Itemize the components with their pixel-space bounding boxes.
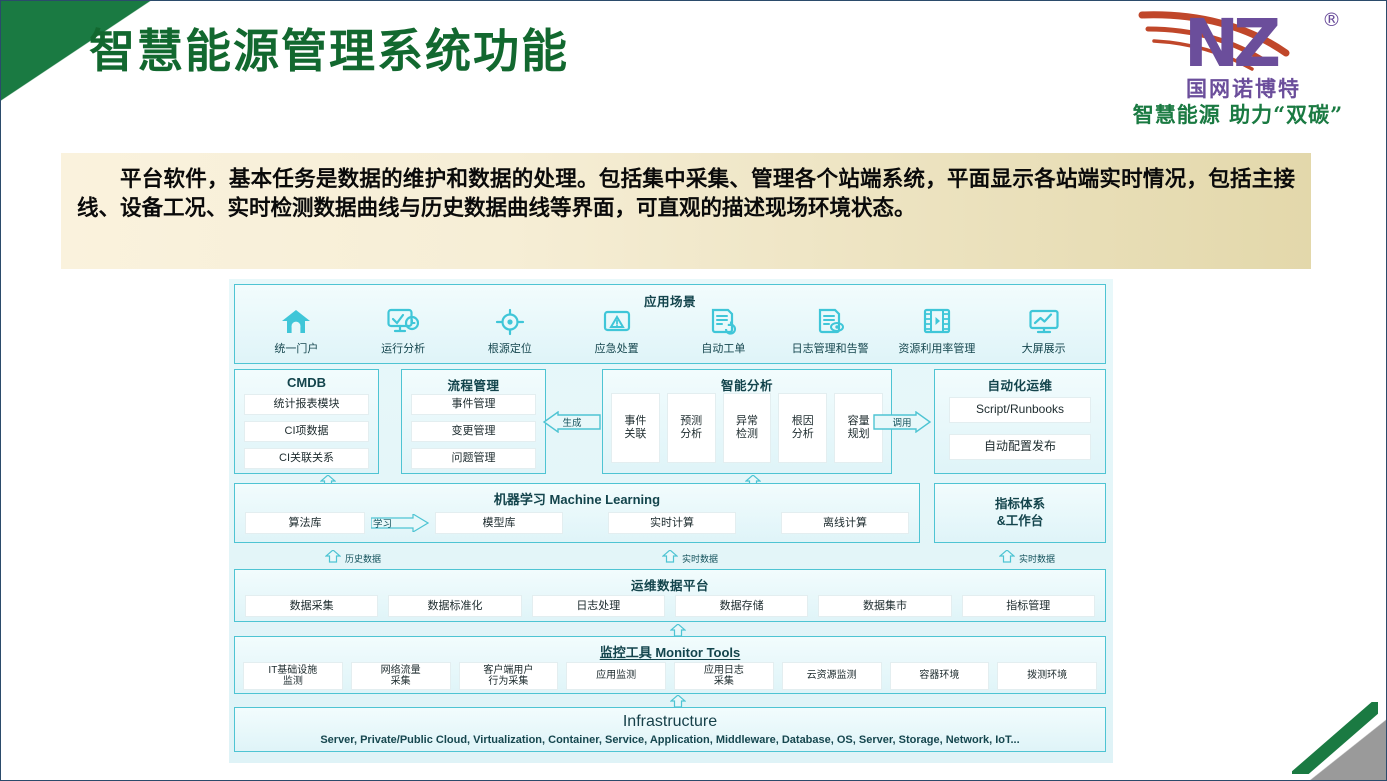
automation-item[interactable]: Script/Runbooks <box>949 397 1091 423</box>
scenario-label: 大屏展示 <box>990 340 1097 356</box>
logo-tagline: 智慧能源 助力“双碳” <box>1106 99 1370 129</box>
panel-machine-learning: 机器学习 Machine Learning 算法库 学习 模型库 实时计算 离线… <box>234 483 920 543</box>
connector-up-arrow-history <box>325 550 341 563</box>
monitor-item-line1: IT基础设施 <box>268 665 317 676</box>
process-items: 事件管理 变更管理 问题管理 <box>411 394 536 475</box>
data-platform-item[interactable]: 指标管理 <box>962 595 1095 617</box>
scenario-label: 统一门户 <box>243 340 350 356</box>
scenario-list: 统一门户 运行分析 根源定位 应急处置 <box>243 307 1097 356</box>
connector-label-realtime-data: 实时数据 <box>682 552 718 565</box>
intelligent-item-line1: 容量 <box>848 415 870 428</box>
monitor-title: 监控工具 Monitor Tools <box>235 637 1105 661</box>
ml-item-offline-compute[interactable]: 离线计算 <box>781 512 909 534</box>
row-mid: CMDB 统计报表模块 CI项数据 CI关联关系 流程管理 事件管理 变更管理 … <box>234 369 1106 474</box>
intelligent-item-line1: 事件 <box>624 415 646 428</box>
monitor-item-line1: 应用日志 <box>704 665 744 676</box>
intelligent-item-line2: 规划 <box>848 428 870 441</box>
panel-ops-data-platform: 运维数据平台 数据采集 数据标准化 日志处理 数据存储 数据集市 指标管理 <box>234 569 1106 622</box>
cmdb-item[interactable]: CI关联关系 <box>244 448 369 469</box>
bigscreen-icon <box>990 307 1097 337</box>
panel-intelligent-analysis: 智能分析 事件 关联 预测 分析 异常 检测 根因 分析 <box>602 369 892 474</box>
intelligent-item-line2: 检测 <box>736 428 758 441</box>
monitor-chart-icon <box>350 307 457 337</box>
row-machine-learning: 机器学习 Machine Learning 算法库 学习 模型库 实时计算 离线… <box>234 483 1106 543</box>
connector-label-history-data: 历史数据 <box>345 552 381 565</box>
resource-icon <box>884 307 991 337</box>
scenario-item-auto-workorder[interactable]: 自动工单 <box>670 307 777 356</box>
scenario-item-resource-utilization[interactable]: 资源利用率管理 <box>884 307 991 356</box>
monitor-item[interactable]: 应用监测 <box>566 662 666 690</box>
architecture-diagram: 应用场景 统一门户 运行分析 根源定位 <box>229 279 1113 763</box>
intelligent-title: 智能分析 <box>603 370 891 394</box>
process-item[interactable]: 变更管理 <box>411 421 536 442</box>
infrastructure-title: Infrastructure <box>235 708 1105 731</box>
scenario-item-log-alarm[interactable]: 日志管理和告警 <box>777 307 884 356</box>
monitor-item[interactable]: 云资源监测 <box>782 662 882 690</box>
automation-title: 自动化运维 <box>935 370 1105 394</box>
intelligent-items: 事件 关联 预测 分析 异常 检测 根因 分析 容量 规划 <box>611 393 883 463</box>
monitor-item-line2: 采集 <box>391 676 411 687</box>
connector-up-arrow-realtime <box>662 550 678 563</box>
arrow-generate-label: 生成 <box>542 415 602 429</box>
connector-label-realtime-data-2: 实时数据 <box>1019 552 1055 565</box>
intelligent-item[interactable]: 根因 分析 <box>778 393 827 463</box>
ml-items: 算法库 学习 模型库 实时计算 离线计算 <box>245 512 909 534</box>
automation-items: Script/Runbooks 自动配置发布 <box>949 397 1091 471</box>
intelligent-item-line2: 分析 <box>680 428 702 441</box>
intelligent-item-line2: 分析 <box>792 428 814 441</box>
data-platform-item[interactable]: 数据集市 <box>818 595 951 617</box>
scenario-label: 自动工单 <box>670 340 777 356</box>
scenario-item-emergency-handling[interactable]: 应急处置 <box>563 307 670 356</box>
monitor-item-line1: 网络流量 <box>381 665 421 676</box>
intelligent-item[interactable]: 预测 分析 <box>667 393 716 463</box>
brand-logo: NZ ® 国网诺博特 智慧能源 助力“双碳” <box>1106 3 1374 135</box>
arrow-learn: 学习 <box>371 514 429 532</box>
log-eye-icon <box>777 307 884 337</box>
workorder-icon <box>670 307 777 337</box>
ml-item-realtime-compute[interactable]: 实时计算 <box>608 512 736 534</box>
logo-mark: NZ ® 国网诺博特 <box>1136 7 1351 85</box>
intelligent-item-line2: 关联 <box>624 428 646 441</box>
panel-automation-ops: 自动化运维 Script/Runbooks 自动配置发布 <box>934 369 1106 474</box>
ml-item-algorithm-library[interactable]: 算法库 <box>245 512 365 534</box>
intelligent-item[interactable]: 事件 关联 <box>611 393 660 463</box>
scenario-label: 资源利用率管理 <box>884 340 991 356</box>
scenario-item-root-cause-locate[interactable]: 根源定位 <box>457 307 564 356</box>
cmdb-item[interactable]: CI项数据 <box>244 421 369 442</box>
intelligent-item-line1: 根因 <box>792 415 814 428</box>
cmdb-items: 统计报表模块 CI项数据 CI关联关系 <box>244 394 369 475</box>
cmdb-title: CMDB <box>235 370 378 390</box>
data-platform-item[interactable]: 数据采集 <box>245 595 378 617</box>
scenario-label: 应急处置 <box>563 340 670 356</box>
infrastructure-subtitle: Server, Private/Public Cloud, Virtualiza… <box>235 731 1105 746</box>
data-platform-title: 运维数据平台 <box>235 570 1105 594</box>
panel-cmdb: CMDB 统计报表模块 CI项数据 CI关联关系 <box>234 369 379 474</box>
monitor-item[interactable]: 客户端用户行为采集 <box>459 662 559 690</box>
kpi-text: 指标体系 &工作台 <box>995 496 1045 530</box>
process-title: 流程管理 <box>402 370 545 394</box>
registered-trademark-icon: ® <box>1322 9 1341 31</box>
automation-item[interactable]: 自动配置发布 <box>949 434 1091 460</box>
scenario-label: 日志管理和告警 <box>777 340 884 356</box>
kpi-line1: 指标体系 <box>995 496 1045 513</box>
monitor-item-line2: 行为采集 <box>488 676 528 687</box>
panel-monitor-tools: 监控工具 Monitor Tools IT基础设施监测 网络流量采集 客户端用户… <box>234 636 1106 694</box>
page-title: 智慧能源管理系统功能 <box>89 15 569 81</box>
intelligent-item-line1: 异常 <box>736 415 758 428</box>
ml-title: 机器学习 Machine Learning <box>235 484 919 508</box>
ml-item-model-library[interactable]: 模型库 <box>435 512 563 534</box>
panel-application-scenarios: 应用场景 统一门户 运行分析 根源定位 <box>234 284 1106 364</box>
monitor-item[interactable]: 应用日志采集 <box>674 662 774 690</box>
crosshair-icon <box>457 307 564 337</box>
cmdb-item[interactable]: 统计报表模块 <box>244 394 369 415</box>
process-item[interactable]: 问题管理 <box>411 448 536 469</box>
description-box: 平台软件，基本任务是数据的维护和数据的处理。包括集中采集、管理各个站端系统，平面… <box>61 153 1311 269</box>
scenario-item-bigscreen[interactable]: 大屏展示 <box>990 307 1097 356</box>
data-platform-items: 数据采集 数据标准化 日志处理 数据存储 数据集市 指标管理 <box>245 595 1095 617</box>
monitor-item[interactable]: 拨测环境 <box>997 662 1097 690</box>
data-platform-item[interactable]: 日志处理 <box>532 595 665 617</box>
arrow-learn-label: 学习 <box>373 516 392 530</box>
panel-kpi-workbench: 指标体系 &工作台 <box>934 483 1106 543</box>
monitor-item[interactable]: 容器环境 <box>890 662 990 690</box>
monitor-items: IT基础设施监测 网络流量采集 客户端用户行为采集 应用监测 应用日志采集 云资… <box>243 662 1097 690</box>
scenario-label: 运行分析 <box>350 340 457 356</box>
kpi-line2: &工作台 <box>995 513 1045 530</box>
description-text: 平台软件，基本任务是数据的维护和数据的处理。包括集中采集、管理各个站端系统，平面… <box>77 165 1295 224</box>
arrow-generate: 生成 <box>542 411 602 433</box>
panel-process-management: 流程管理 事件管理 变更管理 问题管理 <box>401 369 546 474</box>
intelligent-item-line1: 预测 <box>680 415 702 428</box>
logo-letters: NZ <box>1184 11 1275 77</box>
scenario-item-run-analysis[interactable]: 运行分析 <box>350 307 457 356</box>
process-item[interactable]: 事件管理 <box>411 394 536 415</box>
monitor-item[interactable]: IT基础设施监测 <box>243 662 343 690</box>
monitor-item-line1: 客户端用户 <box>483 665 533 676</box>
panel-infrastructure: Infrastructure Server, Private/Public Cl… <box>234 707 1106 752</box>
connector-up-arrow-realtime-2 <box>999 550 1015 563</box>
monitor-item-line2: 采集 <box>714 676 734 687</box>
monitor-item[interactable]: 网络流量采集 <box>351 662 451 690</box>
scenario-label: 根源定位 <box>457 340 564 356</box>
corner-decoration-bottom-right-green <box>1292 702 1378 774</box>
data-platform-item[interactable]: 数据存储 <box>675 595 808 617</box>
monitor-item-line2: 监测 <box>283 676 303 687</box>
scenario-item-unified-portal[interactable]: 统一门户 <box>243 307 350 356</box>
warning-icon <box>563 307 670 337</box>
arrow-invoke-label: 调用 <box>872 415 932 429</box>
home-icon <box>243 307 350 337</box>
intelligent-item[interactable]: 异常 检测 <box>723 393 772 463</box>
data-platform-item[interactable]: 数据标准化 <box>388 595 521 617</box>
arrow-invoke: 调用 <box>872 411 932 433</box>
